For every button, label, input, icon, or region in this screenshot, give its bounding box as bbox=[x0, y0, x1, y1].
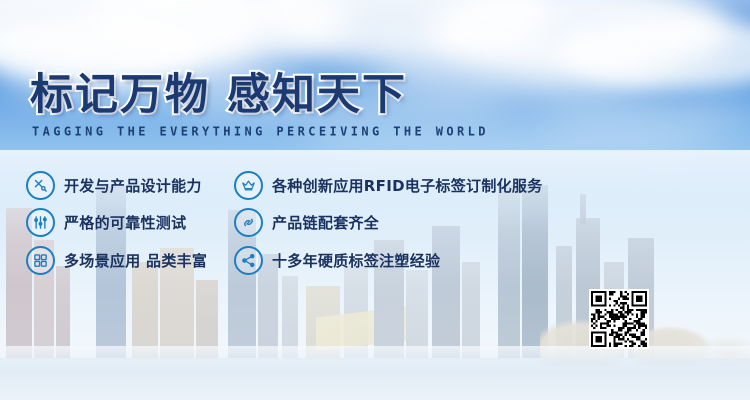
feature-label: 产品链配套齐全 bbox=[272, 212, 379, 233]
feature-item-rfid-service[interactable]: 各种创新应用RFID电子标签订制化服务 bbox=[234, 171, 543, 200]
share-icon bbox=[234, 246, 263, 275]
feature-label: 多场景应用 品类丰富 bbox=[64, 250, 207, 271]
feature-label: 十多年硬质标签注塑经验 bbox=[272, 250, 440, 271]
feature-label: 各种创新应用RFID电子标签订制化服务 bbox=[272, 175, 543, 196]
grid-icon bbox=[26, 246, 55, 275]
crown-icon bbox=[234, 171, 263, 200]
feature-label: 严格的可靠性测试 bbox=[64, 212, 186, 233]
feature-item-supply-chain[interactable]: 产品链配套齐全 bbox=[234, 208, 379, 237]
waterfront bbox=[0, 358, 750, 400]
feature-item-experience[interactable]: 十多年硬质标签注塑经验 bbox=[234, 246, 440, 275]
promo-banner: 标记万物 感知天下 TAGGING THE EVERYTHING PERCEIV… bbox=[0, 0, 750, 400]
tools-icon bbox=[26, 171, 55, 200]
qr-code[interactable] bbox=[589, 289, 649, 349]
feature-item-reliability[interactable]: 严格的可靠性测试 bbox=[26, 208, 186, 237]
sub-title: TAGGING THE EVERYTHING PERCEIVING THE WO… bbox=[32, 124, 489, 139]
sliders-icon bbox=[26, 208, 55, 237]
title-block: 标记万物 感知天下 TAGGING THE EVERYTHING PERCEIV… bbox=[30, 74, 489, 138]
feature-item-development[interactable]: 开发与产品设计能力 bbox=[26, 171, 202, 200]
feature-label: 开发与产品设计能力 bbox=[64, 175, 202, 196]
link-icon bbox=[234, 208, 263, 237]
feature-item-scenarios[interactable]: 多场景应用 品类丰富 bbox=[26, 246, 207, 275]
main-title: 标记万物 感知天下 bbox=[30, 74, 489, 117]
